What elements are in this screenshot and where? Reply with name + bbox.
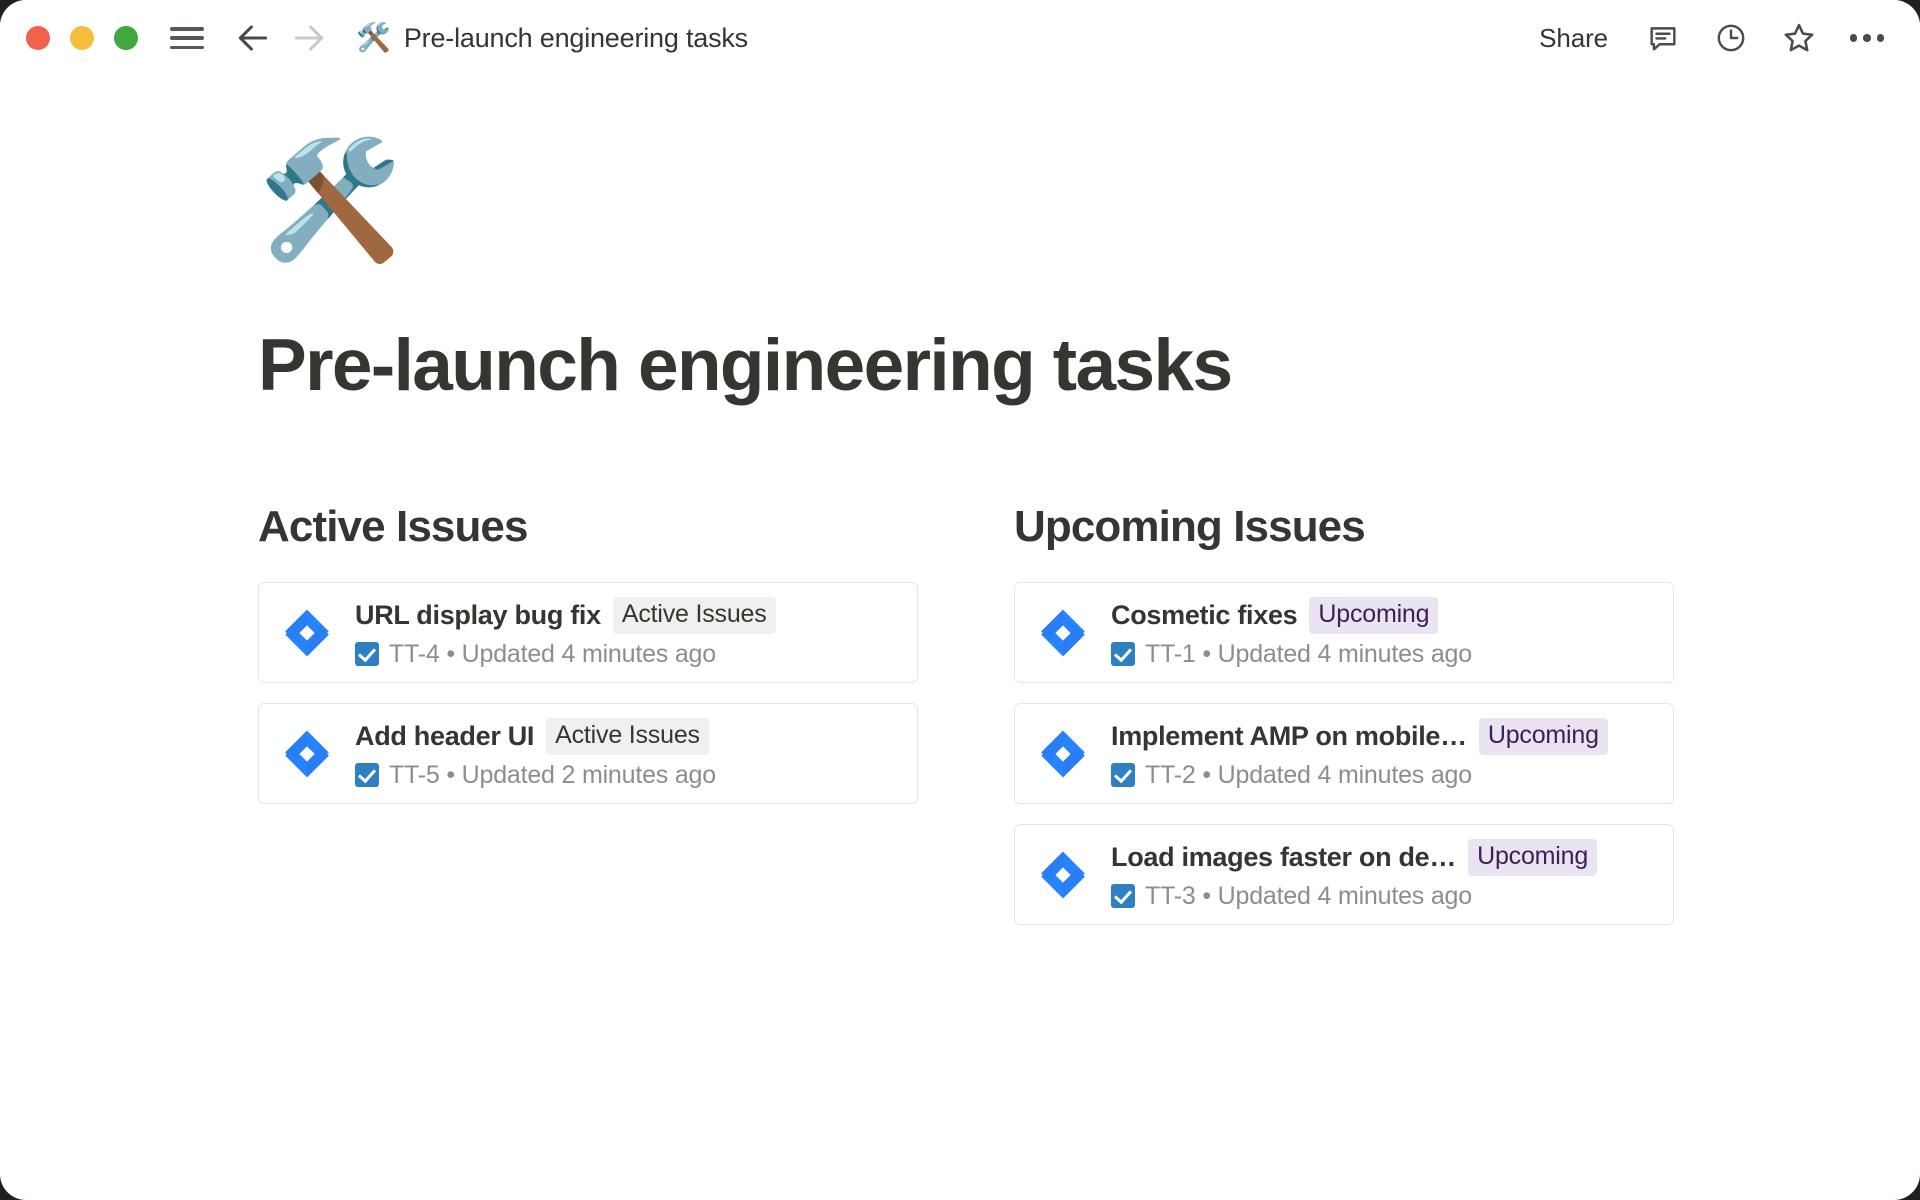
more-dot <box>1877 34 1885 42</box>
minimize-window-button[interactable] <box>70 26 94 50</box>
issue-card[interactable]: Implement AMP on mobile… Upcoming TT-2 •… <box>1014 703 1674 804</box>
share-button[interactable]: Share <box>1533 19 1614 58</box>
issue-meta: TT-1 • Updated 4 minutes ago <box>1145 640 1472 669</box>
issue-card-header: URL display bug fix Active Issues <box>355 597 895 634</box>
breadcrumb-title: Pre-launch engineering tasks <box>404 23 748 54</box>
titlebar-actions: Share <box>1533 19 1886 58</box>
issue-card-meta-row: TT-5 • Updated 2 minutes ago <box>355 761 895 790</box>
issue-card[interactable]: Cosmetic fixes Upcoming TT-1 • Updated 4… <box>1014 582 1674 683</box>
maximize-window-button[interactable] <box>114 26 138 50</box>
jira-logo-icon <box>281 728 333 780</box>
jira-logo-icon <box>1037 849 1089 901</box>
issue-card-header: Load images faster on de… Upcoming <box>1111 839 1651 876</box>
issue-badge: Upcoming <box>1309 597 1438 634</box>
issue-badge: Active Issues <box>546 718 709 755</box>
issue-card[interactable]: Add header UI Active Issues TT-5 • Updat… <box>258 703 918 804</box>
column-active-issues: Active Issues URL display bug fix Active… <box>258 502 918 945</box>
column-heading: Active Issues <box>258 502 918 552</box>
history-clock-icon[interactable] <box>1712 19 1750 57</box>
jira-logo-icon <box>281 607 333 659</box>
app-window: 🛠️ Pre-launch engineering tasks Share <box>0 0 1920 1200</box>
issue-meta: TT-3 • Updated 4 minutes ago <box>1145 882 1472 911</box>
checkbox-checked-icon <box>355 642 379 666</box>
star-favorite-icon[interactable] <box>1780 19 1818 57</box>
issue-badge: Active Issues <box>613 597 776 634</box>
page-content: 🛠️ Pre-launch engineering tasks Active I… <box>0 76 1920 945</box>
checkbox-checked-icon <box>1111 884 1135 908</box>
issue-card-meta-row: TT-4 • Updated 4 minutes ago <box>355 640 895 669</box>
hamburger-line <box>170 46 204 50</box>
page-hammer-and-wrench-icon[interactable]: 🛠️ <box>258 134 1920 284</box>
comment-icon[interactable] <box>1644 19 1682 57</box>
window-traffic-lights <box>26 26 138 50</box>
hamburger-line <box>170 27 204 31</box>
issue-title: URL display bug fix <box>355 600 601 631</box>
jira-logo-icon <box>1037 607 1089 659</box>
hamburger-menu-icon[interactable] <box>170 25 204 51</box>
issue-title: Implement AMP on mobile… <box>1111 721 1467 752</box>
back-arrow-icon[interactable] <box>234 19 272 57</box>
columns-container: Active Issues URL display bug fix Active… <box>258 502 1920 945</box>
navigation-arrows <box>234 19 328 57</box>
issue-card-body: Implement AMP on mobile… Upcoming TT-2 •… <box>1111 718 1651 790</box>
column-heading: Upcoming Issues <box>1014 502 1674 552</box>
checkbox-checked-icon <box>1111 642 1135 666</box>
column-upcoming-issues: Upcoming Issues Cosmetic fixes Upcoming <box>1014 502 1674 945</box>
issue-card-header: Add header UI Active Issues <box>355 718 895 755</box>
issue-badge: Upcoming <box>1468 839 1597 876</box>
forward-arrow-icon[interactable] <box>290 19 328 57</box>
jira-logo-icon <box>1037 728 1089 780</box>
breadcrumb[interactable]: 🛠️ Pre-launch engineering tasks <box>356 23 748 54</box>
issue-card-body: Add header UI Active Issues TT-5 • Updat… <box>355 718 895 790</box>
issue-meta: TT-5 • Updated 2 minutes ago <box>389 761 716 790</box>
issue-card-body: Cosmetic fixes Upcoming TT-1 • Updated 4… <box>1111 597 1651 669</box>
issue-title: Cosmetic fixes <box>1111 600 1297 631</box>
issue-card-meta-row: TT-1 • Updated 4 minutes ago <box>1111 640 1651 669</box>
titlebar: 🛠️ Pre-launch engineering tasks Share <box>0 0 1920 76</box>
more-options-icon[interactable] <box>1848 19 1886 57</box>
issue-title: Load images faster on de… <box>1111 842 1456 873</box>
issue-badge: Upcoming <box>1479 718 1608 755</box>
issue-meta: TT-4 • Updated 4 minutes ago <box>389 640 716 669</box>
issue-card-body: URL display bug fix Active Issues TT-4 •… <box>355 597 895 669</box>
page-title[interactable]: Pre-launch engineering tasks <box>258 326 1920 406</box>
issue-card-meta-row: TT-3 • Updated 4 minutes ago <box>1111 882 1651 911</box>
checkbox-checked-icon <box>1111 763 1135 787</box>
hammer-and-wrench-icon: 🛠️ <box>356 24 391 52</box>
issue-card-body: Load images faster on de… Upcoming TT-3 … <box>1111 839 1651 911</box>
issue-card-header: Implement AMP on mobile… Upcoming <box>1111 718 1651 755</box>
more-dot <box>1850 34 1858 42</box>
checkbox-checked-icon <box>355 763 379 787</box>
more-dot <box>1863 34 1871 42</box>
hamburger-line <box>170 36 204 40</box>
issue-meta: TT-2 • Updated 4 minutes ago <box>1145 761 1472 790</box>
issue-card-meta-row: TT-2 • Updated 4 minutes ago <box>1111 761 1651 790</box>
issue-card-header: Cosmetic fixes Upcoming <box>1111 597 1651 634</box>
issue-title: Add header UI <box>355 721 534 752</box>
issue-card[interactable]: URL display bug fix Active Issues TT-4 •… <box>258 582 918 683</box>
issue-card[interactable]: Load images faster on de… Upcoming TT-3 … <box>1014 824 1674 925</box>
close-window-button[interactable] <box>26 26 50 50</box>
